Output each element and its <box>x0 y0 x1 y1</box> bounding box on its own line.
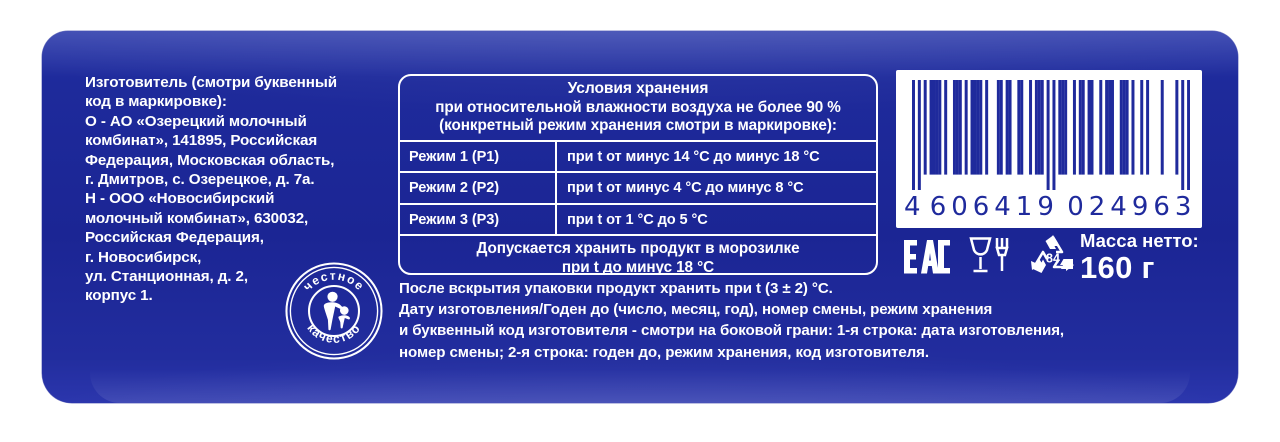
freezer-note-line-2: при t до минус 18 °C <box>404 259 872 275</box>
mode-cell: Режим 3 (Р3) <box>400 205 557 235</box>
barcode: 4 606419 024963 <box>896 70 1202 228</box>
date-note-line: и буквенный код изготовителя - смотри на… <box>399 320 1064 341</box>
temperature-cell: при t от минус 14 °C до минус 18 °C <box>557 142 876 172</box>
chestnoe-kachestvo-seal-icon: честное качество <box>285 262 383 360</box>
barcode-digit-group: 606419 <box>930 192 1059 222</box>
svg-text:качество: качество <box>304 321 363 346</box>
barcode-bars <box>912 80 1190 190</box>
manufacturer-line: Изготовитель (смотри буквенный <box>85 73 405 92</box>
barcode-digits: 4 606419 024963 <box>902 192 1196 222</box>
table-row: Режим 1 (Р1) при t от минус 14 °C до мин… <box>400 140 876 172</box>
food-safe-glass-fork-icon <box>967 236 1011 279</box>
manufacturer-line: Федерация, Московская область, <box>85 151 405 170</box>
recycling-code: 84 <box>1046 252 1060 266</box>
storage-conditions-table: Условия хранения при относительной влажн… <box>398 74 878 275</box>
net-mass-label: Масса нетто: <box>1080 230 1199 251</box>
manufacturer-line: Н - ООО «Новосибирский <box>85 189 405 208</box>
eac-mark-icon <box>903 238 951 279</box>
net-mass: Масса нетто: 160 г <box>1080 230 1199 284</box>
net-mass-value: 160 г <box>1080 251 1199 284</box>
storage-table-footer: Допускается хранить продукт в морозилке … <box>400 234 876 275</box>
after-opening-note: После вскрытия упаковки продукт хранить … <box>399 279 833 298</box>
svg-text:честное: честное <box>300 269 367 294</box>
table-row: Режим 2 (Р2) при t от минус 4 °C до мину… <box>400 171 876 203</box>
barcode-digit-group: 024963 <box>1067 192 1196 222</box>
storage-table-title: Условия хранения <box>404 80 872 99</box>
manufacturer-line: код в маркировке): <box>85 92 405 111</box>
date-note-line: номер смены; 2-я строка: годен до, режим… <box>399 342 1064 363</box>
mode-cell: Режим 1 (Р1) <box>400 142 557 172</box>
symbol-strip: 84 <box>903 234 1079 279</box>
temperature-cell: при t от минус 4 °C до минус 8 °C <box>557 173 876 203</box>
manufacturer-line: г. Дмитров, с. Озерецкое, д. 7а. <box>85 170 405 189</box>
barcode-digit-group: 4 <box>904 192 921 222</box>
seal-bottom-text: качество <box>304 321 363 346</box>
freezer-note-line-1: Допускается хранить продукт в морозилке <box>404 240 872 259</box>
storage-table-subtitle-2: (конкретный режим хранения смотри в марк… <box>404 117 872 136</box>
manufacturer-line: Российская Федерация, <box>85 228 405 247</box>
manufacturer-line: комбинат», 141895, Российская <box>85 131 405 150</box>
temperature-cell: при t от 1 °C до 5 °C <box>557 205 876 235</box>
manufacturer-line: молочный комбинат», 630032, <box>85 209 405 228</box>
recycling-triangle-icon: 84 <box>1027 234 1079 279</box>
storage-table-subtitle-1: при относительной влажности воздуха не б… <box>404 99 872 118</box>
package-body: Изготовитель (смотри буквенный код в мар… <box>42 31 1238 403</box>
mode-cell: Режим 2 (Р2) <box>400 173 557 203</box>
date-note-line: Дату изготовления/Годен до (число, месяц… <box>399 299 1064 320</box>
production-date-note: Дату изготовления/Годен до (число, месяц… <box>399 299 1064 363</box>
seal-top-text: честное <box>300 269 367 294</box>
package-screenshot: Изготовитель (смотри буквенный код в мар… <box>0 0 1280 442</box>
storage-table-header: Условия хранения при относительной влажн… <box>400 76 876 140</box>
table-row: Режим 3 (Р3) при t от 1 °C до 5 °C <box>400 203 876 235</box>
manufacturer-line: О - АО «Озерецкий молочный <box>85 112 405 131</box>
